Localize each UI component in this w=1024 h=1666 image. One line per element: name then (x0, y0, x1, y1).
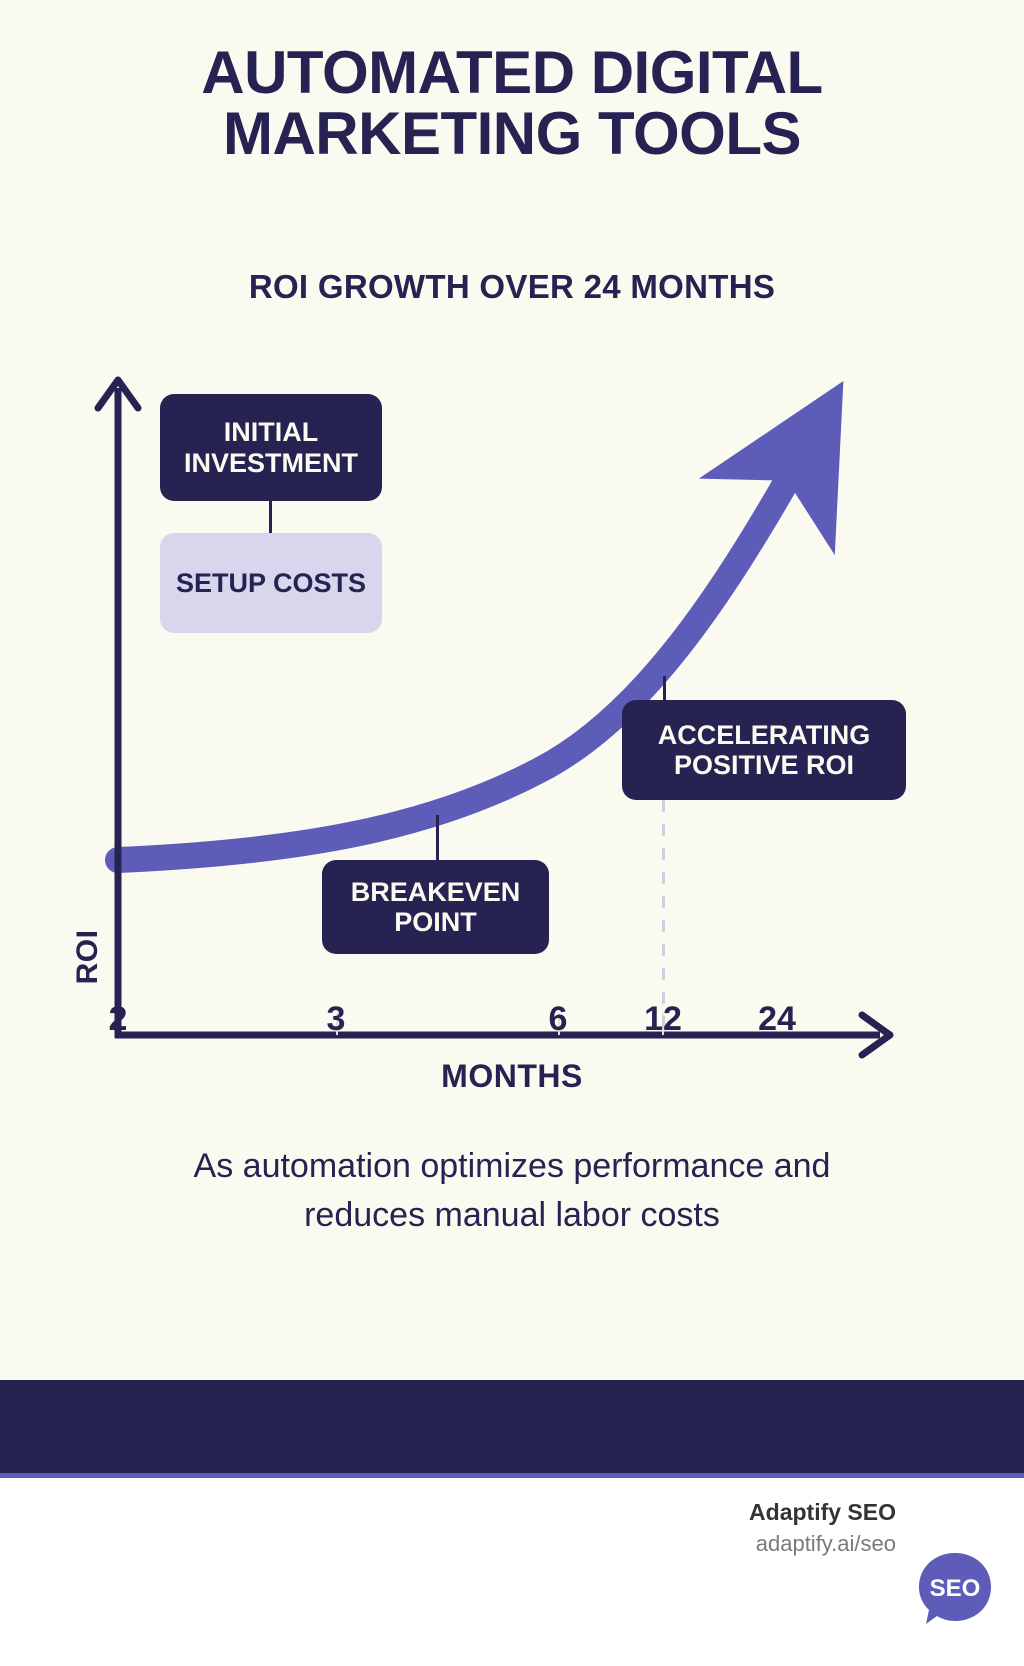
footer-brand-name: Adaptify SEO (749, 1498, 896, 1528)
x-tick-label-0: 2 (109, 1000, 128, 1039)
x-axis-label: MONTHS (0, 1058, 1024, 1095)
callout-accelerating-positive-roi: ACCELERATING POSITIVE ROI (622, 700, 906, 800)
footer-navy-band (0, 1380, 1024, 1473)
caption-text: As automation optimizes performance and … (0, 1142, 1024, 1241)
caption-line-2: reduces manual labor costs (70, 1191, 954, 1240)
x-tick-label-2: 6 (549, 1000, 568, 1039)
y-axis-label: ROI (71, 897, 105, 1017)
page-subtitle: ROI GROWTH OVER 24 MONTHS (0, 268, 1024, 306)
callout-initial-investment: INITIAL INVESTMENT (160, 394, 382, 501)
callout-breakeven-point: BREAKEVEN POINT (322, 860, 549, 954)
adaptify-seo-logo: SEO (916, 1550, 994, 1628)
footer-branding: Adaptify SEO adaptify.ai/seo (749, 1498, 896, 1560)
footer-brand-url[interactable]: adaptify.ai/seo (749, 1528, 896, 1560)
connector-initial-investment (269, 500, 272, 536)
x-tick-label-3: 12 (644, 1000, 682, 1039)
infographic-poster: AUTOMATED DIGITAL MARKETING TOOLS ROI GR… (0, 0, 1024, 1666)
logo-text: SEO (930, 1575, 981, 1602)
connector-breakeven-point (436, 815, 439, 863)
page-title: AUTOMATED DIGITAL MARKETING TOOLS (0, 42, 1024, 164)
x-tick-label-4: 24 (758, 1000, 796, 1039)
page-title-line-1: AUTOMATED DIGITAL (40, 42, 984, 103)
caption-line-1: As automation optimizes performance and (70, 1142, 954, 1191)
page-title-line-2: MARKETING TOOLS (40, 103, 984, 164)
callout-setup-costs: SETUP COSTS (160, 533, 382, 633)
x-tick-label-1: 3 (327, 1000, 346, 1039)
